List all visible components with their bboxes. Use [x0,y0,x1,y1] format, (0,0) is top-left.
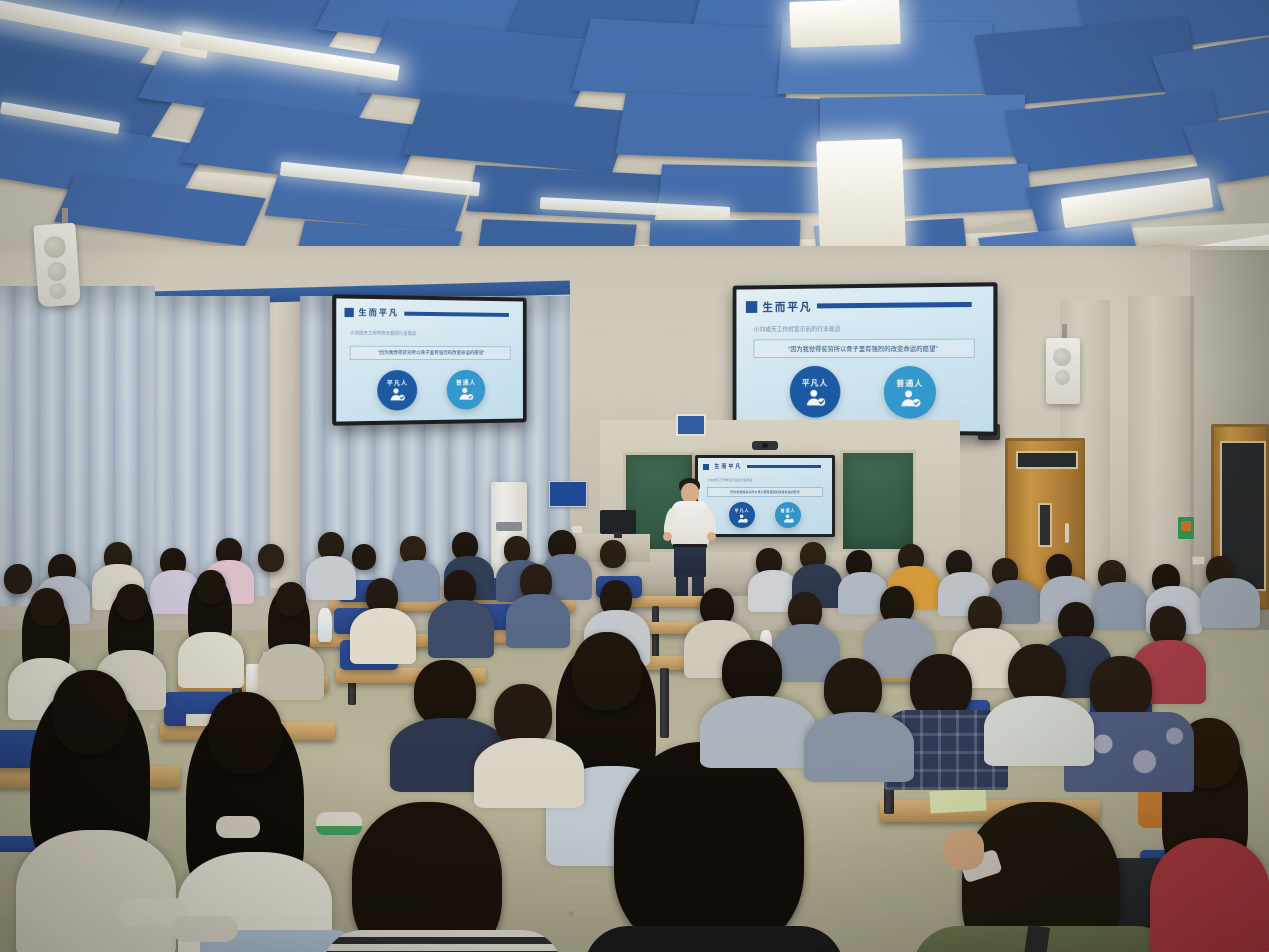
slide-left: 生而平凡 小刘成天工作时宣示后的行业现忌 “因为我觉得贫穷所以骨子里有强烈的改变… [336,298,523,421]
person-check-icon [389,387,405,401]
slide-subtitle: 小刘成天工作时宣示后的行业现忌 [350,331,416,338]
slide-subtitle: 小刘成天工作时宣示后的行业现忌 [754,324,841,333]
slide-title-bar: 生而平凡 [703,463,821,470]
slide-circle-label: 平凡人 [802,377,828,388]
slide-title-marker [344,308,353,317]
student-hand [944,830,984,870]
slide-circle-row: 平凡人 普通人 [336,369,523,411]
student-head [196,570,226,604]
slide-title-marker [703,464,709,470]
slide-circle-ordinary: 平凡人 [377,370,417,411]
student-torso [700,696,816,768]
wall-band [0,246,1269,262]
speaker-cone [47,261,67,281]
slide-circle-common: 普通人 [884,366,936,419]
speaker-cone [1055,370,1070,385]
student-striped-shirt [322,930,562,952]
slide-title-marker [746,301,757,313]
ceiling-speaker-left [33,223,81,308]
acoustic-panel [402,93,632,174]
person-check-icon [805,388,825,406]
slide-circle-row: 平凡人 普通人 [736,366,993,420]
slide-title-bar: 生而平凡 [344,307,509,320]
slide-circle-label: 普通人 [896,378,923,389]
student-sneaker-green-sole [316,826,362,835]
slide-title: 生而平凡 [358,307,398,319]
camera-lens-icon [762,443,768,448]
classroom-information-sign [549,481,587,507]
acoustic-panel [572,18,803,101]
slide-right: 生而平凡 小刘成天工作时宣示后的行业现忌 “因为我觉得贫穷所以骨子里有强烈的改变… [736,286,993,431]
slide-title: 生而平凡 [762,298,812,314]
student-torso [474,738,584,808]
wall-poster [676,414,706,436]
slide-circle-ordinary: 平凡人 [790,366,841,418]
slide-circle-label: 平凡人 [387,378,408,387]
student-head [208,692,282,774]
audience-foreground [0,630,1269,952]
slide-quote-box: “因为我觉得贫穷所以骨子里有强烈的改变命运的愿望” [754,339,975,358]
student-head [52,670,128,754]
student-head [572,632,642,710]
door-transom-window [1016,451,1078,469]
student-head [824,658,882,720]
speaker-cone [43,235,66,258]
right-projection-screen[interactable]: 生而平凡 小刘成天工作时宣示后的行业现忌 “因为我觉得贫穷所以骨子里有强烈的改变… [733,282,998,436]
speaker-cone [1053,348,1071,366]
slide-circle-common: 普通人 [447,369,486,409]
slide-quote-box: “因为我觉得贫穷所以骨子里有强烈的改变命运的愿望” [707,487,822,497]
slide-quote-box: “因为我觉得贫穷所以骨子里有强烈的改变命运的愿望” [350,345,510,359]
ceiling-speaker-right [1046,338,1080,404]
lecturer-head [681,483,699,503]
student-head [494,684,552,746]
student-head [276,582,306,616]
student-torso [1150,838,1269,952]
student-head [414,660,476,726]
student-torso [804,712,914,782]
slide-circle-label: 普通人 [456,378,476,387]
left-projection-screen[interactable]: 生而平凡 小刘成天工作时宣示后的行业现忌 “因为我觉得贫穷所以骨子里有强烈的改变… [332,294,527,426]
speaker-cone [49,282,66,299]
student-head [30,588,64,626]
slide-title-rule [817,302,972,308]
slide-title-rule [747,465,821,468]
student-torso [984,696,1094,766]
acoustic-panel [615,92,835,161]
person-check-icon [458,387,473,401]
student-head [722,640,782,704]
student-torso [16,830,176,952]
slide-title-bar: 生而平凡 [746,297,972,315]
student-head [116,584,148,620]
student-sneaker [172,916,238,942]
student-head [614,742,804,952]
person-check-icon [899,389,920,407]
slide-title: 生而平凡 [714,463,742,470]
ceiling-light [789,0,901,48]
student-torso [584,926,844,952]
student-sneaker [216,816,260,838]
acoustic-panel [650,220,801,248]
slide-title-rule [404,312,509,317]
lecture-hall-photo: 生而平凡 小刘成天工作时宣示后的行业现忌 “因为我觉得贫穷所以骨子里有强烈的改变… [0,0,1269,952]
ceiling-light [816,139,906,252]
